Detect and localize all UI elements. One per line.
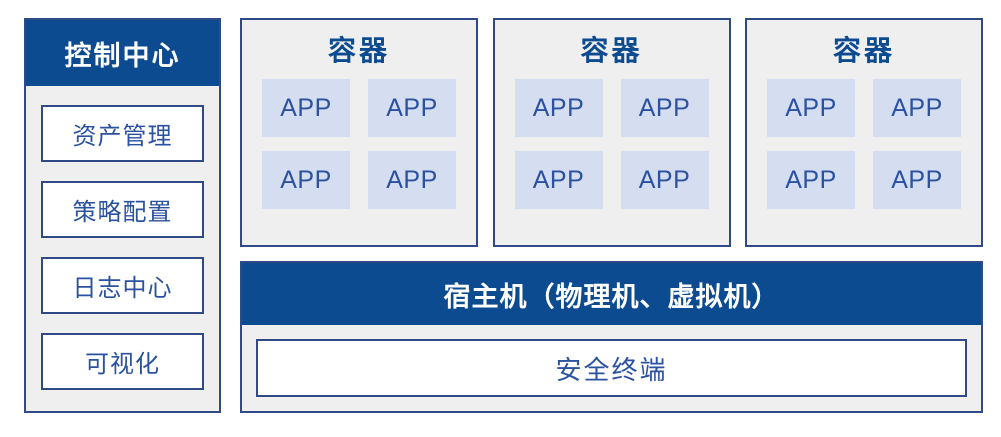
app-box[interactable]: APP	[515, 151, 603, 209]
security-terminal-box[interactable]: 安全终端	[256, 339, 967, 397]
architecture-diagram: 控制中心 资产管理 策略配置 日志中心 可视化 容器 APP APP APP A…	[0, 0, 1001, 437]
app-box[interactable]: APP	[621, 79, 709, 137]
app-box[interactable]: APP	[873, 79, 961, 137]
control-center-item-visualization[interactable]: 可视化	[41, 333, 204, 390]
app-box[interactable]: APP	[621, 151, 709, 209]
app-box[interactable]: APP	[368, 79, 456, 137]
container-title: 容器	[833, 37, 895, 65]
app-box[interactable]: APP	[767, 151, 855, 209]
control-center-panel: 控制中心 资产管理 策略配置 日志中心 可视化	[24, 18, 221, 413]
control-center-title: 控制中心	[26, 20, 219, 86]
container-title: 容器	[580, 37, 642, 65]
app-grid: APP APP APP APP	[262, 79, 456, 209]
control-center-item-list: 资产管理 策略配置 日志中心 可视化	[26, 86, 219, 411]
host-machine-panel: 宿主机（物理机、虚拟机） 安全终端	[240, 261, 983, 413]
app-box[interactable]: APP	[262, 79, 350, 137]
app-box[interactable]: APP	[262, 151, 350, 209]
container-panel-3: 容器 APP APP APP APP	[745, 18, 983, 247]
container-panel-2: 容器 APP APP APP APP	[493, 18, 731, 247]
app-box[interactable]: APP	[515, 79, 603, 137]
app-box[interactable]: APP	[368, 151, 456, 209]
app-box[interactable]: APP	[873, 151, 961, 209]
host-machine-title: 宿主机（物理机、虚拟机）	[242, 263, 981, 325]
control-center-item-log-center[interactable]: 日志中心	[41, 257, 204, 314]
host-machine-body: 安全终端	[242, 325, 981, 411]
control-center-item-policy-configuration[interactable]: 策略配置	[41, 181, 204, 238]
app-grid: APP APP APP APP	[515, 79, 709, 209]
containers-row: 容器 APP APP APP APP 容器 APP APP APP APP 容器…	[240, 18, 983, 247]
container-panel-1: 容器 APP APP APP APP	[240, 18, 478, 247]
app-box[interactable]: APP	[767, 79, 855, 137]
container-title: 容器	[328, 37, 390, 65]
app-grid: APP APP APP APP	[767, 79, 961, 209]
control-center-item-asset-management[interactable]: 资产管理	[41, 105, 204, 162]
